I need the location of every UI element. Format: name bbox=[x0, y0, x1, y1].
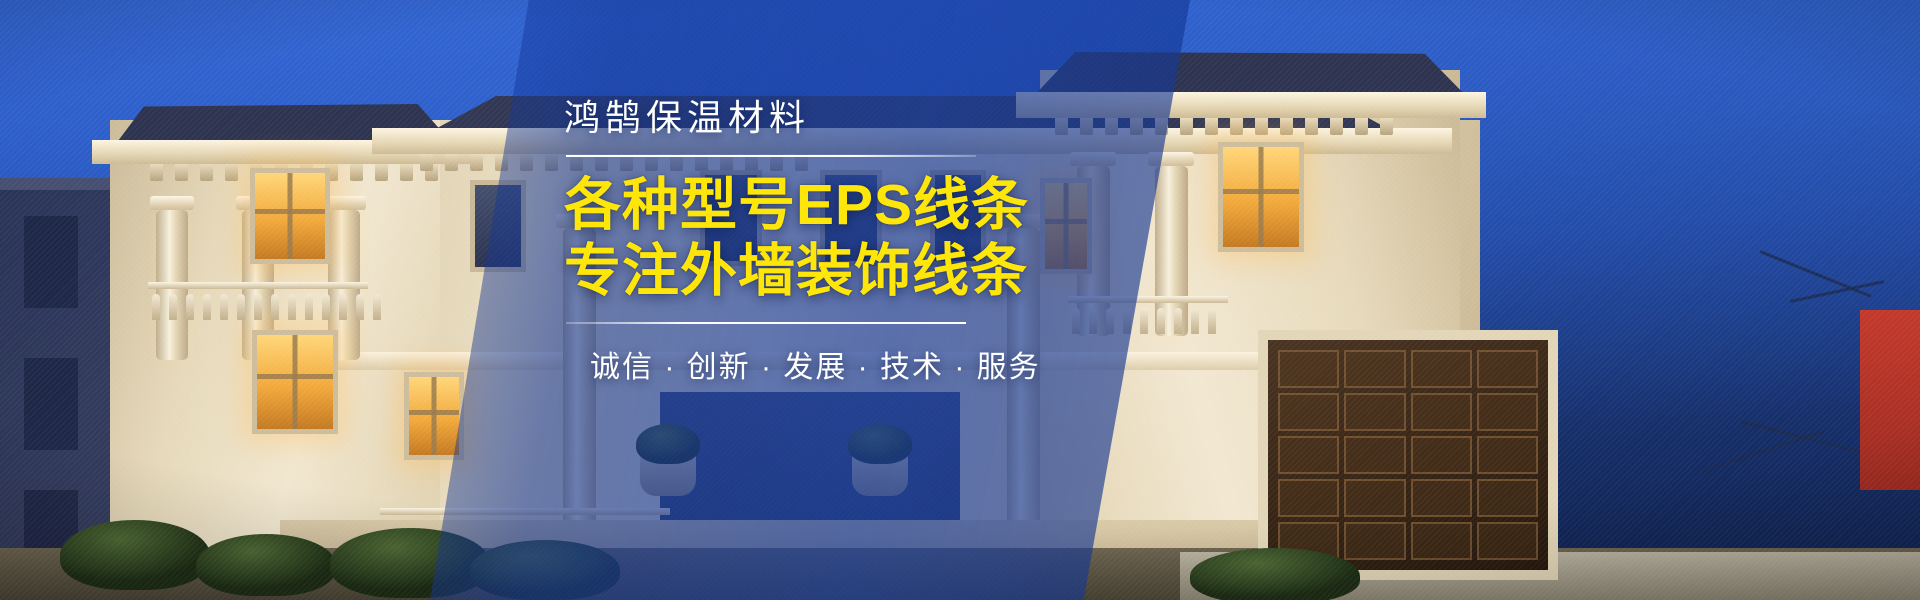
divider-bottom bbox=[566, 322, 966, 324]
shrub bbox=[60, 520, 210, 590]
column-capital bbox=[150, 196, 194, 210]
glowing-window bbox=[252, 330, 338, 434]
garage-door bbox=[1258, 330, 1558, 580]
banner-copy: 鸿鹄保温材料 各种型号EPS线条 专注外墙装饰线条 诚信 · 创新 · 发展 ·… bbox=[560, 96, 1030, 386]
glowing-window bbox=[1218, 142, 1304, 252]
balustrade bbox=[152, 286, 381, 320]
headline-line-2: 专注外墙装饰线条 bbox=[564, 241, 1030, 303]
shrub bbox=[1190, 548, 1360, 600]
glowing-window bbox=[404, 372, 464, 460]
headline-line-1: 各种型号EPS线条 bbox=[564, 175, 1030, 237]
red-container bbox=[1860, 310, 1920, 490]
promo-banner: 鸿鹄保温材料 各种型号EPS线条 专注外墙装饰线条 诚信 · 创新 · 发展 ·… bbox=[0, 0, 1920, 600]
glowing-window bbox=[250, 168, 330, 264]
divider-top bbox=[566, 155, 976, 157]
brand-name: 鸿鹄保温材料 bbox=[564, 96, 1030, 139]
garage-panels bbox=[1278, 350, 1538, 560]
tagline: 诚信 · 创新 · 发展 · 技术 · 服务 bbox=[590, 342, 1030, 386]
shrub bbox=[196, 534, 336, 596]
